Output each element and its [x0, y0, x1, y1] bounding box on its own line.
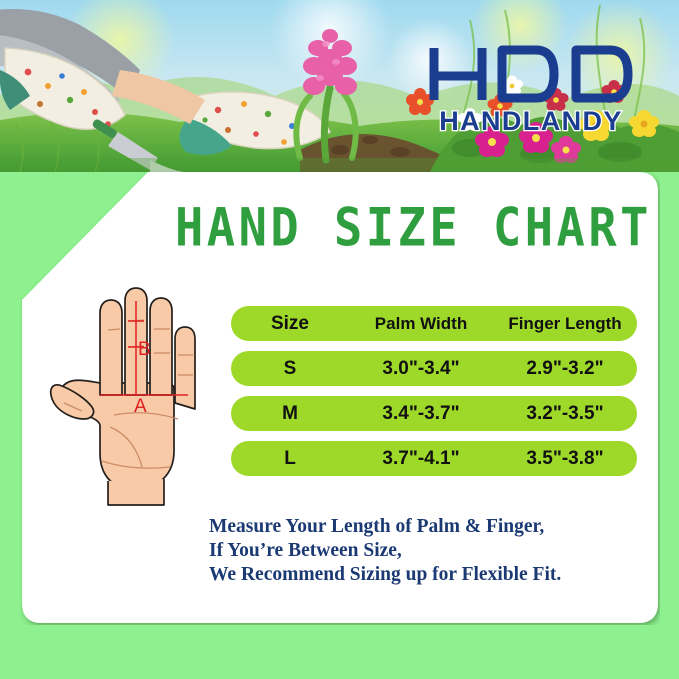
page-title: HAND SIZE CHART [175, 202, 655, 255]
instruction-line-2: If You’re Between Size, [209, 539, 649, 563]
cell-finger-length: 3.2"-3.5" [493, 403, 637, 425]
size-table: Size Palm Width Finger Length S 3.0"-3.4… [231, 306, 637, 476]
cell-finger-length: 2.9"-3.2" [493, 358, 637, 380]
cell-finger-length: 3.5"-3.8" [493, 448, 637, 470]
hd-monogram-icon [434, 48, 628, 100]
cell-palm-width: 3.4"-3.7" [349, 403, 493, 425]
header-palm-width: Palm Width [349, 314, 493, 334]
handlandy-logo: HANDLANDY [424, 38, 638, 134]
table-row: M 3.4"-3.7" 3.2"-3.5" [231, 396, 637, 431]
size-chart-card: HAND SIZE CHART [20, 170, 660, 625]
hand-measurement-diagram: B A [42, 285, 222, 510]
cell-size: M [231, 403, 349, 425]
label-b: B [138, 339, 151, 360]
hand-size-chart-page: HANDLANDY HAND SIZE CHART [0, 0, 679, 679]
table-header-row: Size Palm Width Finger Length [231, 306, 637, 341]
table-row: S 3.0"-3.4" 2.9"-3.2" [231, 351, 637, 386]
sizing-instructions: Measure Your Length of Palm & Finger, If… [209, 515, 649, 587]
cell-palm-width: 3.0"-3.4" [349, 358, 493, 380]
hand-diagram-artwork: B A [42, 285, 222, 510]
header-size: Size [231, 313, 349, 335]
instruction-line-3: We Recommend Sizing up for Flexible Fit. [209, 563, 649, 587]
logo-wordmark: HANDLANDY [439, 106, 623, 134]
cell-size: L [231, 448, 349, 470]
handlandy-logo-artwork: HANDLANDY [424, 38, 638, 134]
table-row: L 3.7"-4.1" 3.5"-3.8" [231, 441, 637, 476]
instruction-line-1: Measure Your Length of Palm & Finger, [209, 515, 649, 539]
cell-size: S [231, 358, 349, 380]
label-a: A [134, 396, 147, 417]
cell-palm-width: 3.7"-4.1" [349, 448, 493, 470]
header-finger-length: Finger Length [493, 314, 637, 334]
